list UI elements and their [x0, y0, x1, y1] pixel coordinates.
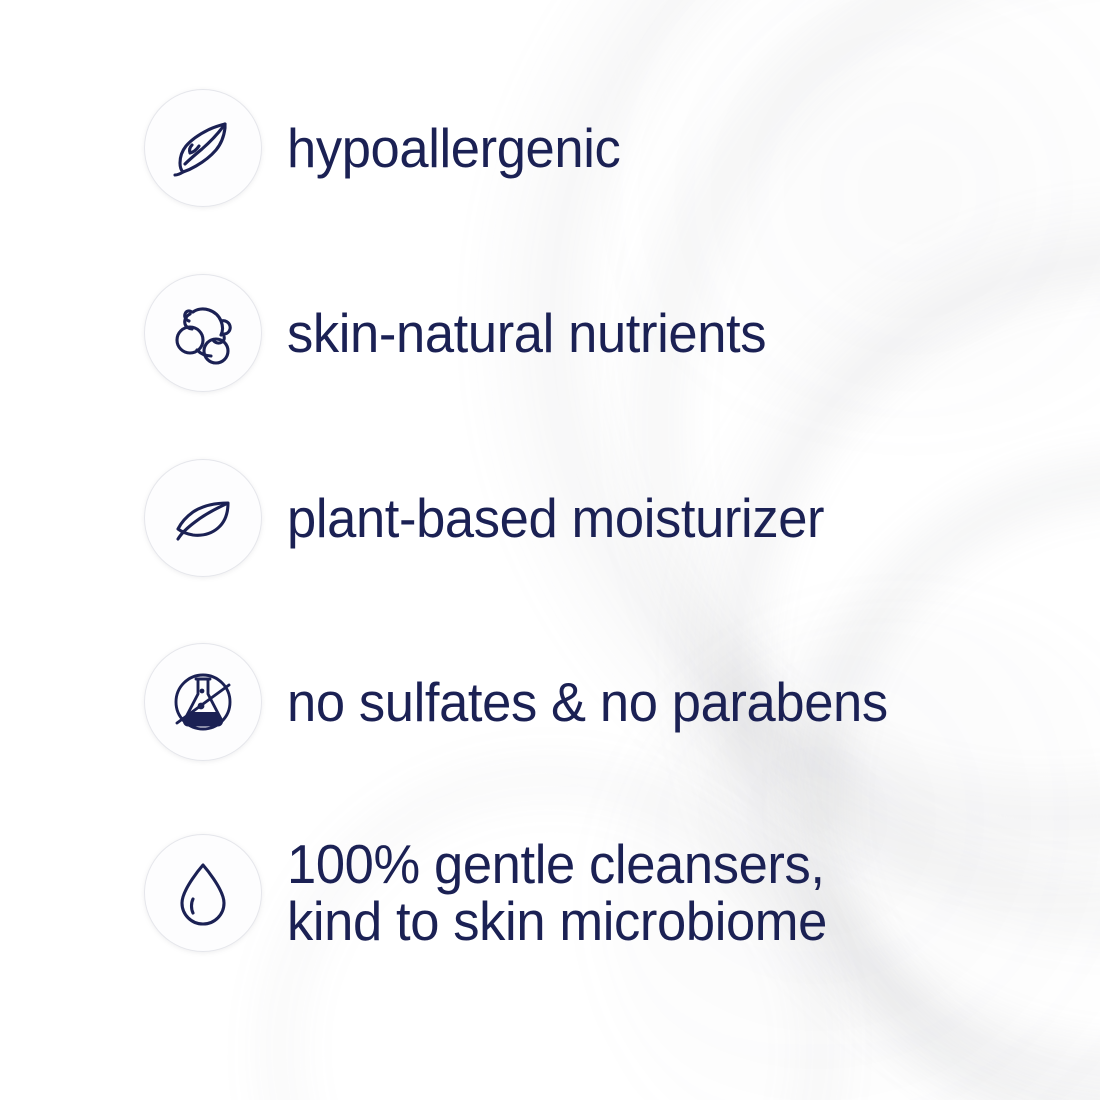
feature-label: 100% gentle cleansers, kind to skin micr…	[287, 836, 827, 949]
feature-item-hypoallergenic: hypoallergenic	[144, 89, 636, 207]
feature-label: hypoallergenic	[287, 119, 620, 177]
water-droplet-icon	[144, 834, 262, 952]
feature-label: no sulfates & no parabens	[287, 673, 888, 731]
product-benefits-panel: hypoallergenic skin-natural nutrients	[0, 0, 1100, 1100]
feature-item-gentle-cleansers: 100% gentle cleansers, kind to skin micr…	[144, 834, 852, 952]
molecule-nutrients-icon	[144, 274, 262, 392]
feature-item-no-sulfates-no-parabens: no sulfates & no parabens	[144, 643, 916, 761]
feature-label: skin-natural nutrients	[287, 304, 766, 362]
feature-label: plant-based moisturizer	[287, 489, 824, 547]
feature-item-skin-natural-nutrients: skin-natural nutrients	[144, 274, 789, 392]
leaf-icon	[144, 459, 262, 577]
feature-item-plant-based-moisturizer: plant-based moisturizer	[144, 459, 849, 577]
no-chemicals-flask-icon	[144, 643, 262, 761]
feature-list: hypoallergenic skin-natural nutrients	[0, 0, 1100, 1100]
feather-icon	[144, 89, 262, 207]
